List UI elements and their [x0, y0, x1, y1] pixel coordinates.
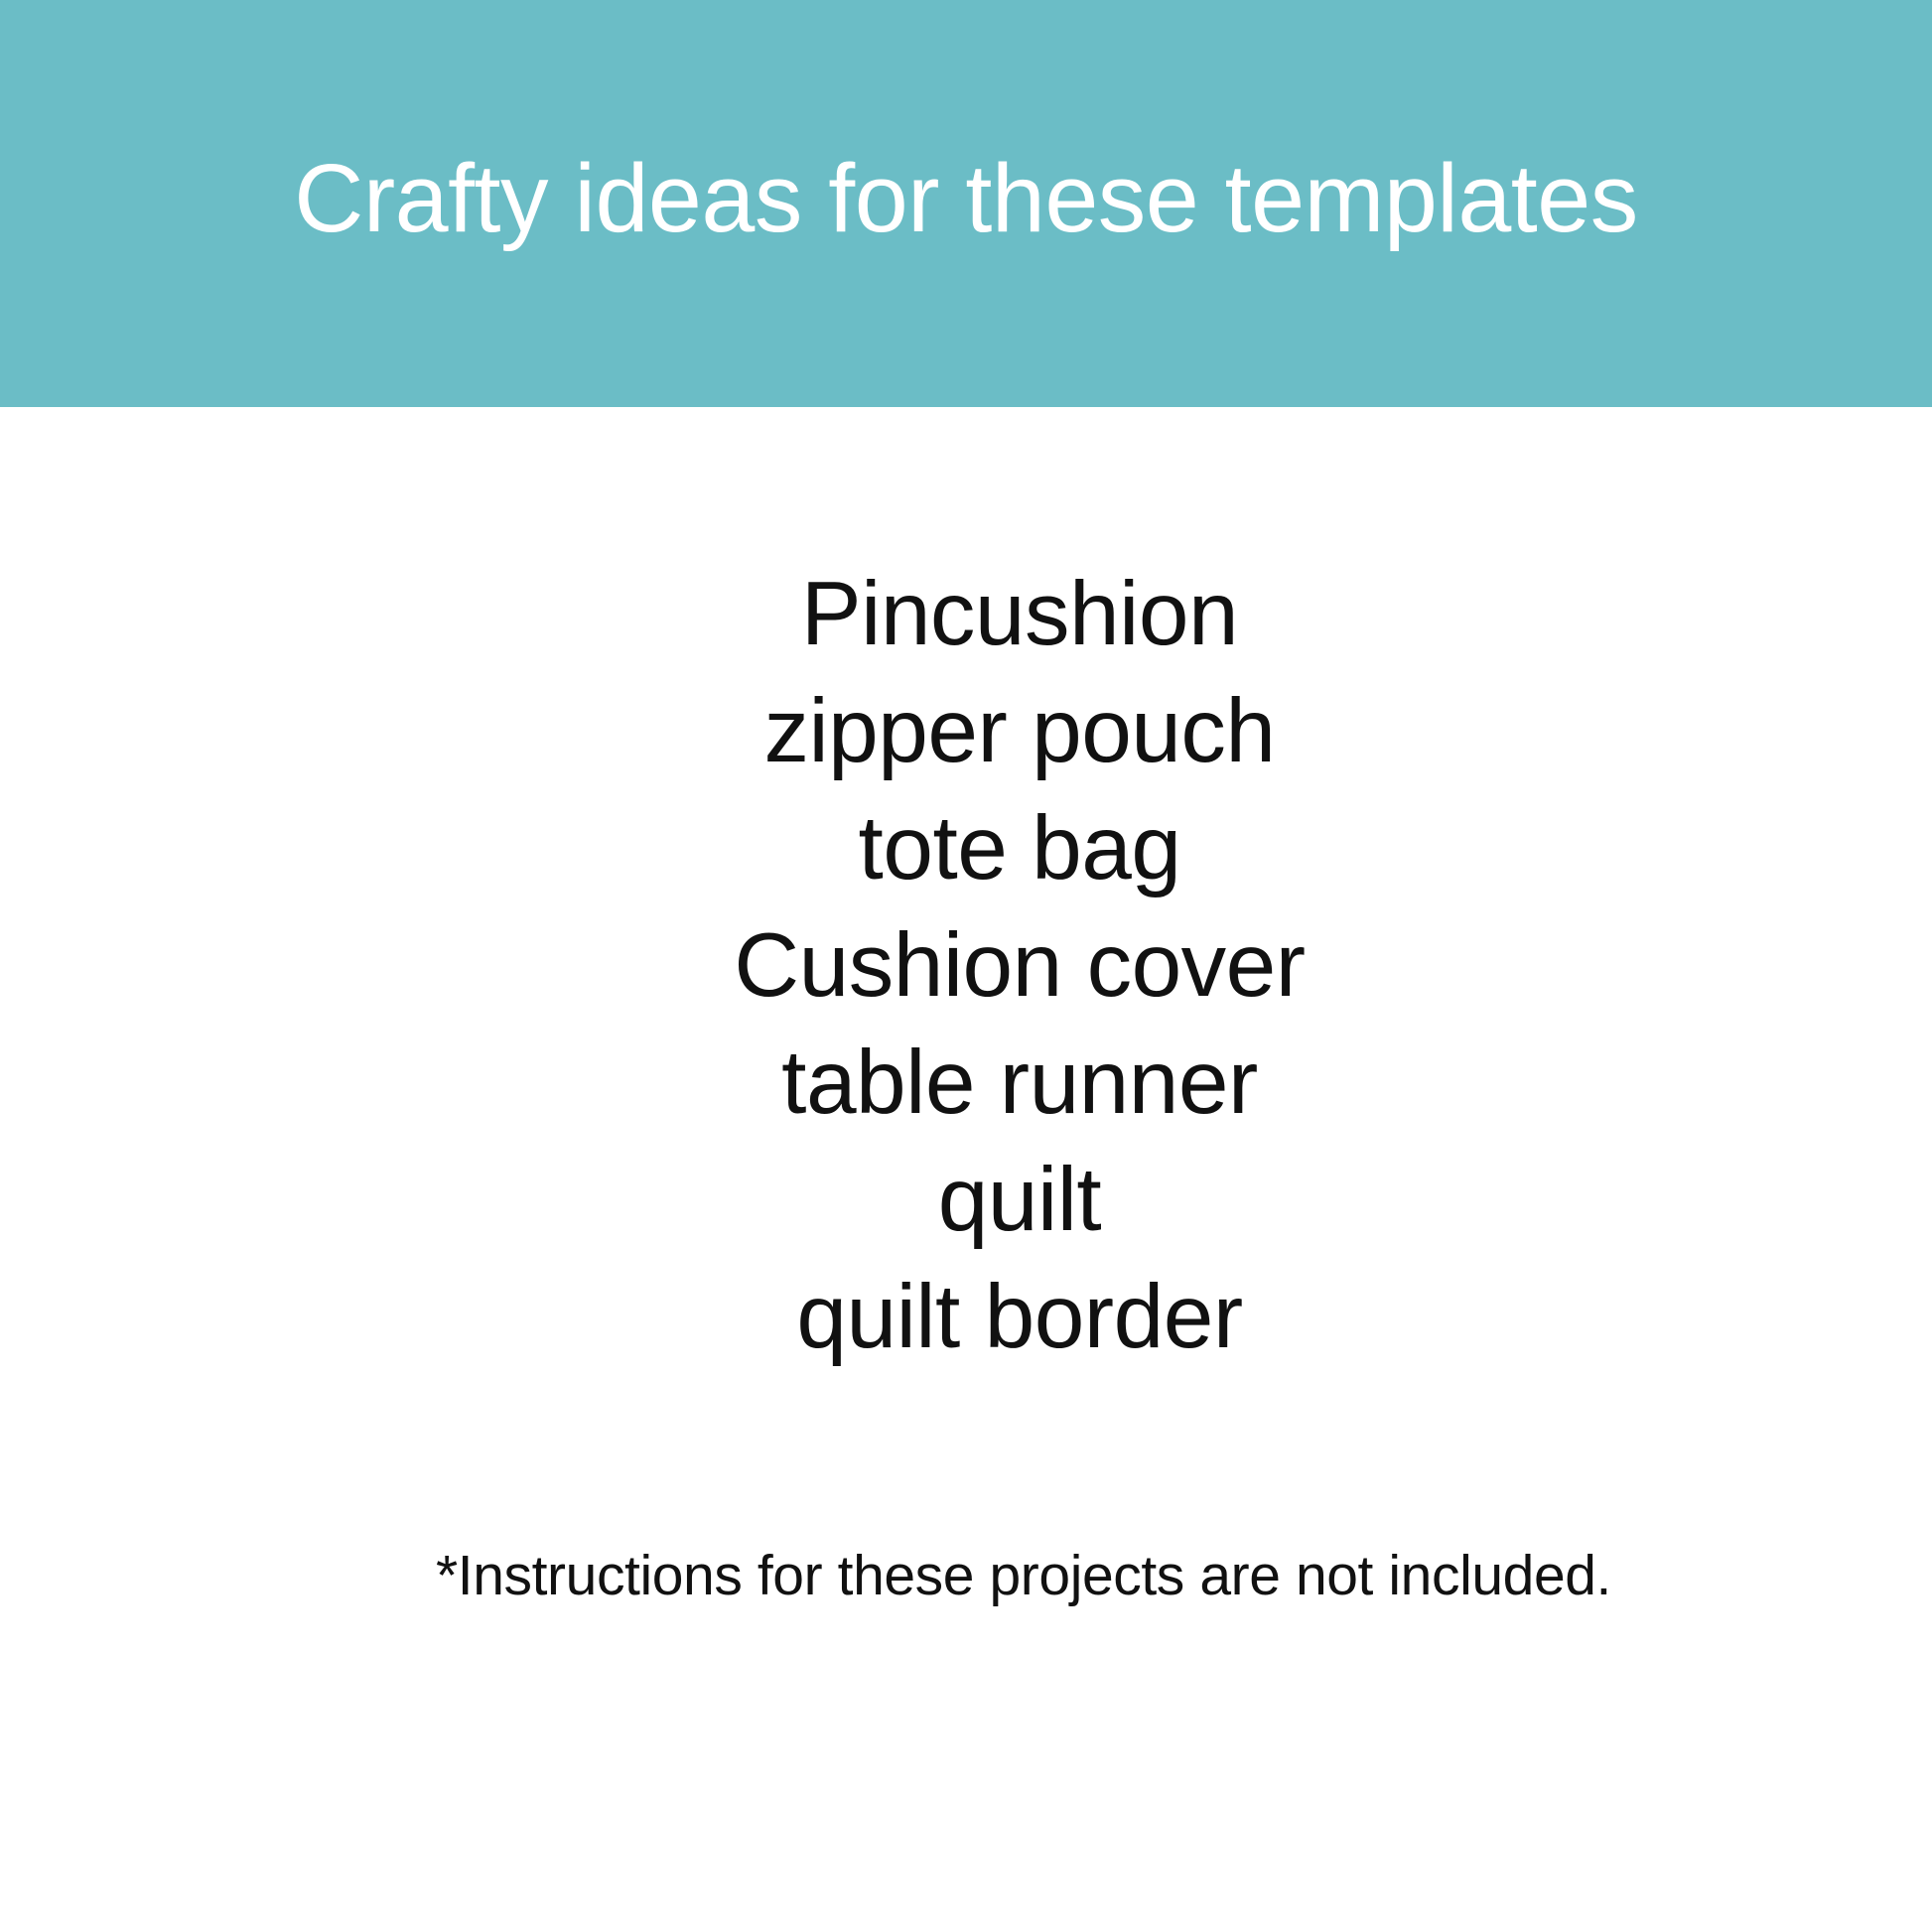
list-item: table runner [54, 1025, 1932, 1142]
list-item: quilt [54, 1142, 1932, 1259]
list-item: quilt border [54, 1259, 1932, 1376]
footnote-disclaimer: *Instructions for these projects are not… [58, 1541, 1932, 1610]
page-title: Crafty ideas for these templates [294, 150, 1637, 246]
list-item: tote bag [54, 790, 1932, 907]
page-root: Crafty ideas for these templates Pincush… [0, 0, 1932, 1932]
list-item: zipper pouch [54, 673, 1932, 790]
body-area: Pincushion zipper pouch tote bag Cushion… [0, 407, 1932, 1932]
crafty-ideas-list: Pincushion zipper pouch tote bag Cushion… [0, 556, 1932, 1376]
list-item: Pincushion [54, 556, 1932, 673]
header-band: Crafty ideas for these templates [0, 0, 1932, 407]
list-item: Cushion cover [54, 907, 1932, 1025]
